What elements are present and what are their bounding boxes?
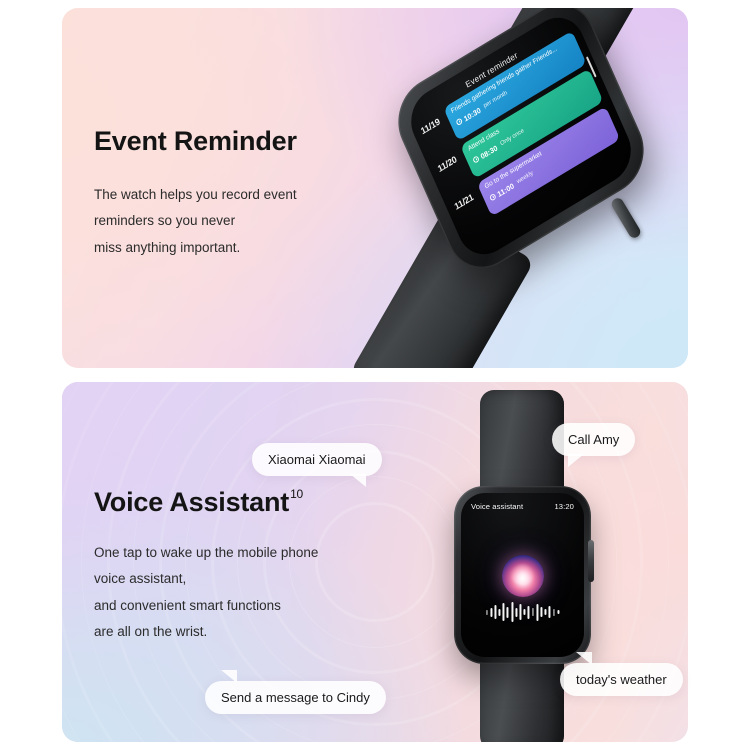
voice-assistant-copy: Voice Assistant10 One tap to wake up the… bbox=[94, 487, 318, 645]
watch-screen-voice-assistant[interactable]: Voice assistant 13:20 bbox=[461, 493, 584, 657]
screen-clock-voice: 13:20 bbox=[554, 502, 574, 511]
watch-side-button[interactable] bbox=[588, 540, 594, 582]
screen-title-voice-assistant: Voice assistant bbox=[471, 502, 523, 511]
waveform-bar bbox=[507, 607, 509, 618]
waveform-bar bbox=[519, 604, 521, 620]
page-title-voice-assistant: Voice Assistant10 bbox=[94, 487, 318, 518]
clock-icon bbox=[472, 156, 480, 165]
waveform-bar bbox=[549, 606, 551, 618]
waveform-bar bbox=[553, 609, 555, 616]
voice-waveform-icon bbox=[486, 601, 559, 623]
product-feature-page: Event reminder 13:20 11/19 Friends gathe… bbox=[0, 0, 750, 750]
waveform-bar bbox=[536, 604, 538, 621]
waveform-bar bbox=[532, 608, 534, 616]
event-list: 11/19 Friends gathering friends gather F… bbox=[418, 31, 623, 237]
waveform-bar bbox=[557, 610, 559, 614]
speech-bubble-call-amy[interactable]: Call Amy bbox=[552, 423, 635, 456]
voice-assistant-orb-icon[interactable] bbox=[502, 555, 544, 597]
waveform-bar bbox=[511, 602, 513, 622]
watch-case: Voice assistant 13:20 bbox=[454, 486, 591, 664]
waveform-bar bbox=[515, 608, 517, 617]
page-title-event-reminder: Event Reminder bbox=[94, 126, 297, 157]
voice-assistant-title-text: Voice Assistant bbox=[94, 487, 289, 517]
waveform-bar bbox=[494, 605, 496, 619]
waveform-bar bbox=[540, 607, 542, 617]
waveform-bar bbox=[503, 603, 505, 621]
event-reminder-description: The watch helps you record event reminde… bbox=[94, 182, 297, 261]
waveform-bar bbox=[490, 608, 492, 617]
panel-event-reminder: Event reminder 13:20 11/19 Friends gathe… bbox=[62, 8, 688, 368]
waveform-bar bbox=[499, 609, 501, 616]
speech-bubble-todays-weather[interactable]: today's weather bbox=[560, 663, 683, 696]
screen-status-bar: Voice assistant 13:20 bbox=[471, 502, 574, 511]
voice-assistant-footnote-marker: 10 bbox=[290, 487, 303, 501]
speech-bubble-send-message[interactable]: Send a message to Cindy bbox=[205, 681, 386, 714]
clock-icon bbox=[456, 118, 464, 127]
voice-assistant-description: One tap to wake up the mobile phone voic… bbox=[94, 540, 318, 645]
waveform-bar bbox=[545, 609, 547, 615]
watch-side-button[interactable] bbox=[610, 196, 643, 240]
speech-bubble-wake-word[interactable]: Xiaomai Xiaomai bbox=[252, 443, 382, 476]
smartwatch-event-reminder: Event reminder 13:20 11/19 Friends gathe… bbox=[324, 8, 688, 368]
clock-icon bbox=[489, 193, 497, 202]
waveform-bar bbox=[524, 609, 526, 615]
waveform-bar bbox=[486, 610, 488, 615]
event-reminder-copy: Event Reminder The watch helps you recor… bbox=[94, 126, 297, 261]
waveform-bar bbox=[528, 606, 530, 619]
